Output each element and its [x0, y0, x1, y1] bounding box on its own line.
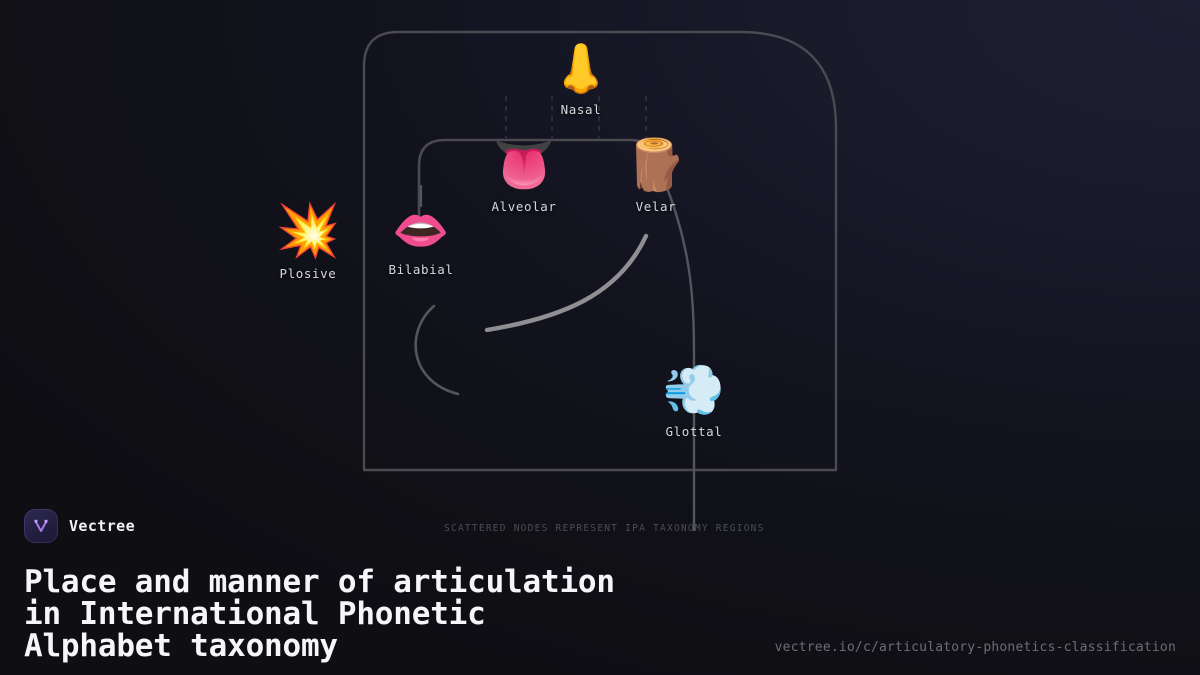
brand-lockup[interactable]: Vectree	[24, 509, 135, 543]
node-label-nasal: Nasal	[561, 102, 602, 117]
vectree-v-logo-icon	[30, 515, 52, 537]
articulation-sweep-curve	[487, 236, 646, 330]
node-bilabial[interactable]: 👄 Bilabial	[351, 207, 491, 277]
diagram-caption: SCATTERED NODES REPRESENT IPA TAXONOMY R…	[444, 523, 765, 534]
nose-emoji: 👃	[551, 45, 611, 93]
node-glottal[interactable]: 💨 Glottal	[624, 365, 764, 439]
node-label-velar: Velar	[636, 199, 677, 214]
wood-log-emoji: 🪵	[625, 140, 687, 190]
dashing-away-emoji: 💨	[663, 365, 725, 415]
footer: Vectree SCATTERED NODES REPRESENT IPA TA…	[0, 497, 1200, 675]
page-title: Place and manner of articulation in Inte…	[24, 566, 615, 662]
node-label-bilabial: Bilabial	[388, 262, 453, 277]
collision-emoji: 💥	[276, 205, 341, 257]
infographic-canvas: 💥 Plosive 👄 Bilabial 👅 Alveolar 🪵 Velar …	[0, 0, 1200, 675]
tongue-emoji: 👅	[493, 140, 555, 190]
node-label-glottal: Glottal	[666, 424, 723, 439]
mouth-emoji: 👄	[392, 207, 449, 253]
brand-name: Vectree	[69, 517, 135, 535]
vectree-logo-badge	[24, 509, 58, 543]
source-url[interactable]: vectree.io/c/articulatory-phonetics-clas…	[775, 640, 1176, 655]
left-arc-curve	[416, 306, 458, 394]
node-velar[interactable]: 🪵 Velar	[586, 140, 726, 214]
node-nasal[interactable]: 👃 Nasal	[511, 45, 651, 117]
node-alveolar[interactable]: 👅 Alveolar	[454, 140, 594, 214]
velar-glottal-connector	[664, 180, 694, 530]
node-label-plosive: Plosive	[280, 266, 337, 281]
node-label-alveolar: Alveolar	[491, 199, 556, 214]
